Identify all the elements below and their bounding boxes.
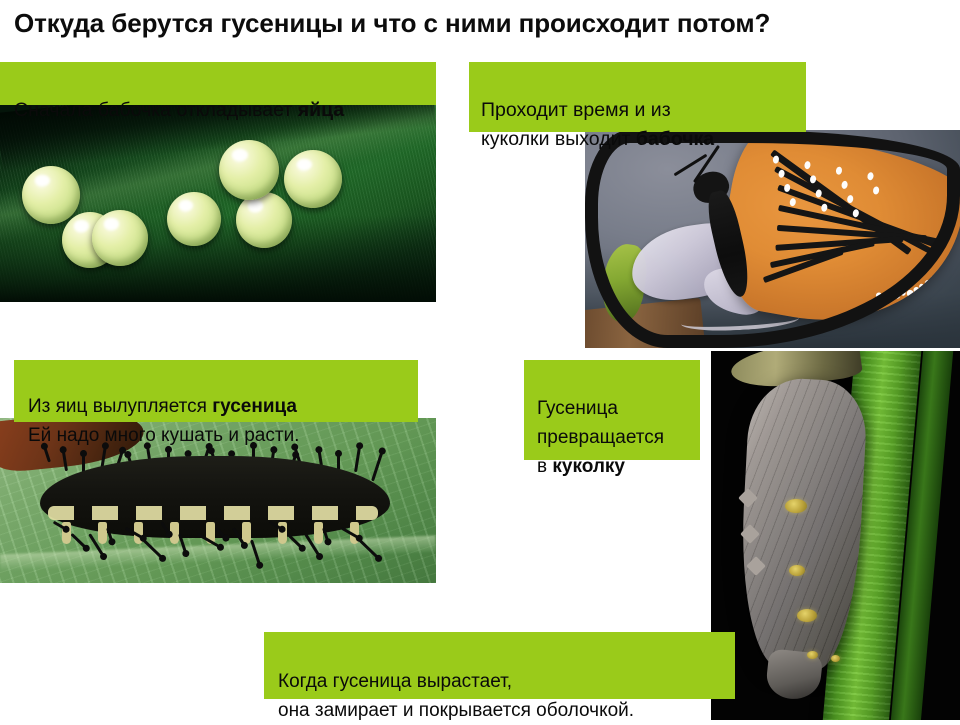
caption-caterpillar-lead: Из яиц вылупляется (28, 396, 212, 417)
caption-eggs-lead: Сначала бабочка откладывает (14, 99, 298, 121)
caption-butterfly-emphasis: бабочка (636, 128, 714, 150)
caterpillar-leg-2 (98, 522, 107, 544)
chrysalis-scene (711, 351, 960, 720)
caption-caterpillar: Из яиц вылупляется гусеница Ей надо мног… (14, 360, 418, 422)
chrysalis-gold-spot-3 (797, 609, 817, 622)
photo-eggs (0, 104, 436, 302)
egg-4 (167, 192, 221, 246)
caption-chrysalis: Гусеница превращается в куколку (524, 360, 700, 460)
butterfly-abdomen (703, 188, 755, 300)
eggs-scene (0, 104, 436, 302)
egg-7 (284, 150, 342, 208)
slide-root: Откуда берутся гусеницы и что с ними про… (0, 0, 960, 720)
caption-bottom: Когда гусеница вырастает, она замирает и… (264, 632, 735, 699)
caption-eggs-emphasis: яйца (298, 99, 344, 121)
caption-bottom-lead: Когда гусеница вырастает, она замирает и… (278, 671, 634, 721)
page-title: Откуда берутся гусеницы и что с ними про… (14, 8, 944, 39)
photo-chrysalis (711, 351, 960, 720)
butterfly-body (683, 172, 767, 284)
chrysalis-gold-spot-5 (831, 655, 840, 662)
caterpillar-leg-8 (314, 522, 323, 544)
egg-6 (219, 140, 279, 200)
caption-eggs: Сначала бабочка откладывает яйца (0, 62, 436, 105)
photo-butterfly (585, 130, 960, 348)
egg-1 (22, 166, 80, 224)
egg-5 (236, 192, 292, 248)
chrysalis-gold-spot-4 (807, 651, 818, 659)
caption-caterpillar-emphasis: гусеница (212, 396, 297, 417)
caterpillar-body (40, 456, 390, 538)
caption-butterfly: Проходит время и из куколки выходит бабо… (469, 62, 806, 132)
chrysalis-gold-spot-2 (789, 565, 805, 576)
caption-chrysalis-emphasis: куколку (552, 456, 625, 477)
caterpillar-stripe (48, 506, 378, 520)
butterfly-scene (585, 130, 960, 348)
chrysalis-gold-spot-1 (785, 499, 807, 513)
caption-caterpillar-trail: Ей надо много кушать и расти. (28, 425, 299, 446)
egg-3 (92, 210, 148, 266)
